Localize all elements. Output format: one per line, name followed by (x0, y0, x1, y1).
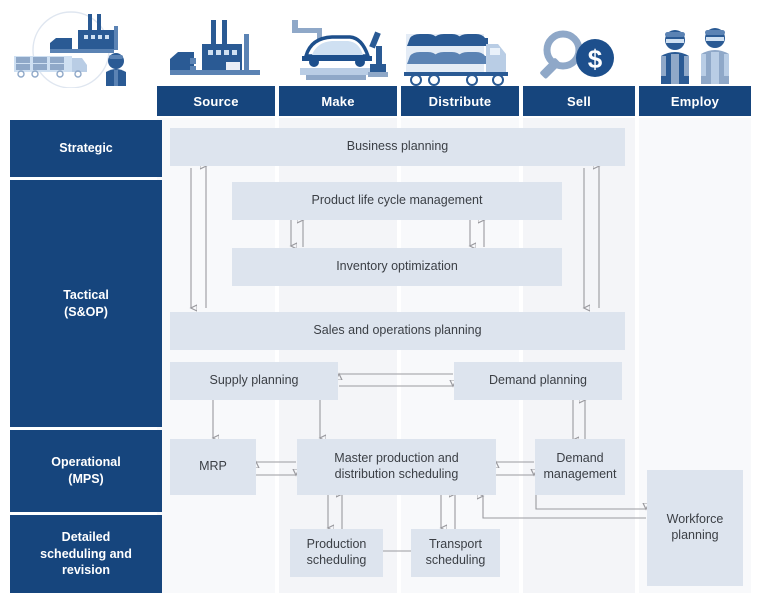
row-label-operational-line1: Operational (51, 454, 120, 471)
column-header-source-label: Source (193, 94, 238, 109)
row-label-strategic[interactable]: Strategic (10, 120, 162, 177)
box-mrp-label: MRP (199, 459, 227, 475)
box-mrp[interactable]: MRP (170, 439, 256, 495)
box-demand-management-line1: Demand (544, 451, 617, 467)
box-master-production-line1: Master production and (334, 451, 458, 467)
diagram-canvas: $ Source Make (0, 0, 768, 610)
box-workforce-planning-line2: planning (667, 528, 724, 544)
row-label-operational-line2: (MPS) (51, 471, 120, 488)
row-label-detailed-line1: Detailed (40, 529, 132, 546)
row-label-tactical-line1: Tactical (63, 287, 109, 304)
row-label-detailed-line3: revision (40, 562, 132, 579)
svg-text:$: $ (588, 44, 603, 74)
box-supply-planning[interactable]: Supply planning (170, 362, 338, 400)
box-transport-scheduling[interactable]: Transport scheduling (411, 529, 500, 577)
box-business-planning-label: Business planning (347, 139, 448, 155)
box-master-production-line2: distribution scheduling (334, 467, 458, 483)
box-supply-planning-label: Supply planning (210, 373, 299, 389)
box-demand-management-line2: management (544, 467, 617, 483)
car-carrier-truck-icon (401, 4, 519, 88)
box-sales-operations-planning-label: Sales and operations planning (313, 323, 481, 339)
magnifier-dollar-icon: $ (523, 4, 635, 88)
box-master-production[interactable]: Master production and distribution sched… (297, 439, 496, 495)
box-production-scheduling-line2: scheduling (307, 553, 367, 569)
supply-chain-overview-icon (6, 4, 152, 88)
row-label-tactical-line2: (S&OP) (63, 304, 109, 321)
row-label-detailed[interactable]: Detailed scheduling and revision (10, 515, 162, 593)
box-business-planning[interactable]: Business planning (170, 128, 625, 166)
row-label-strategic-text: Strategic (59, 140, 113, 157)
column-header-make-label: Make (321, 94, 354, 109)
column-header-distribute-label: Distribute (429, 94, 492, 109)
box-transport-scheduling-line1: Transport (426, 537, 486, 553)
box-product-life-cycle-label: Product life cycle management (312, 193, 483, 209)
column-header-sell[interactable]: Sell (523, 86, 635, 116)
box-production-scheduling-line1: Production (307, 537, 367, 553)
box-inventory-optimization-label: Inventory optimization (336, 259, 458, 275)
box-sales-operations-planning[interactable]: Sales and operations planning (170, 312, 625, 350)
column-header-employ[interactable]: Employ (639, 86, 751, 116)
column-header-distribute[interactable]: Distribute (401, 86, 519, 116)
car-assembly-robot-icon (279, 4, 397, 88)
box-demand-management[interactable]: Demand management (535, 439, 625, 495)
box-product-life-cycle[interactable]: Product life cycle management (232, 182, 562, 220)
column-header-source[interactable]: Source (157, 86, 275, 116)
column-header-employ-label: Employ (671, 94, 719, 109)
column-header-make[interactable]: Make (279, 86, 397, 116)
column-header-sell-label: Sell (567, 94, 591, 109)
box-demand-planning[interactable]: Demand planning (454, 362, 622, 400)
box-inventory-optimization[interactable]: Inventory optimization (232, 248, 562, 286)
box-demand-planning-label: Demand planning (489, 373, 587, 389)
box-workforce-planning-line1: Workforce (667, 512, 724, 528)
box-production-scheduling[interactable]: Production scheduling (290, 529, 383, 577)
row-label-operational[interactable]: Operational (MPS) (10, 430, 162, 512)
row-label-tactical[interactable]: Tactical (S&OP) (10, 180, 162, 427)
factory-icon (157, 4, 275, 88)
two-workers-icon (639, 4, 751, 88)
box-transport-scheduling-line2: scheduling (426, 553, 486, 569)
row-label-detailed-line2: scheduling and (40, 546, 132, 563)
box-workforce-planning[interactable]: Workforce planning (647, 470, 743, 586)
